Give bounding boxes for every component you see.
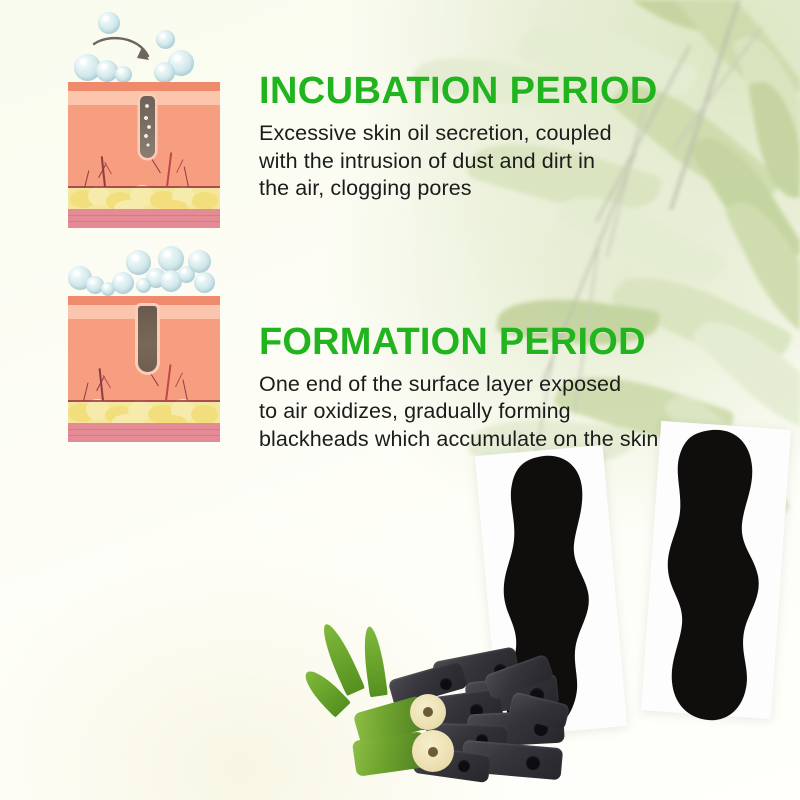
blood-vessel-line <box>68 186 220 188</box>
skin-cross-section-2 <box>68 296 220 442</box>
skin-cross-section-1 <box>68 82 220 228</box>
blackhead-plug <box>138 306 157 372</box>
clogged-pore-with-particles <box>140 96 155 158</box>
incubation-body-line-2: with the intrusion of dust and dirt in <box>259 148 729 176</box>
bamboo-cut-end-2 <box>412 730 454 772</box>
muscle-layer <box>68 209 220 228</box>
nose-strip-right <box>650 426 790 726</box>
formation-body-line-2: to air oxidizes, gradually forming <box>259 398 729 426</box>
incubation-body: Excessive skin oil secretion, coupled wi… <box>259 120 729 203</box>
epidermis-surface-layer <box>68 296 220 305</box>
incubation-heading: INCUBATION PERIOD <box>259 72 729 110</box>
formation-heading: FORMATION PERIOD <box>259 323 729 361</box>
incubation-body-line-1: Excessive skin oil secretion, coupled <box>259 120 729 148</box>
blood-vessel-line <box>68 400 220 402</box>
muscle-layer <box>68 423 220 442</box>
text-column: INCUBATION PERIOD Excessive skin oil sec… <box>259 72 729 453</box>
infographic-canvas: INCUBATION PERIOD Excessive skin oil sec… <box>0 0 800 800</box>
arrow-icon <box>92 34 158 68</box>
formation-body-line-1: One end of the surface layer exposed <box>259 371 729 399</box>
bamboo-charcoal-cluster <box>318 612 568 800</box>
diagram-formation <box>68 238 220 442</box>
bamboo-cut-end-1 <box>410 694 446 730</box>
incubation-body-line-3: the air, clogging pores <box>259 175 729 203</box>
section-incubation: INCUBATION PERIOD Excessive skin oil sec… <box>259 72 729 203</box>
diagram-incubation <box>68 8 220 228</box>
epidermis-surface-layer <box>68 82 220 91</box>
